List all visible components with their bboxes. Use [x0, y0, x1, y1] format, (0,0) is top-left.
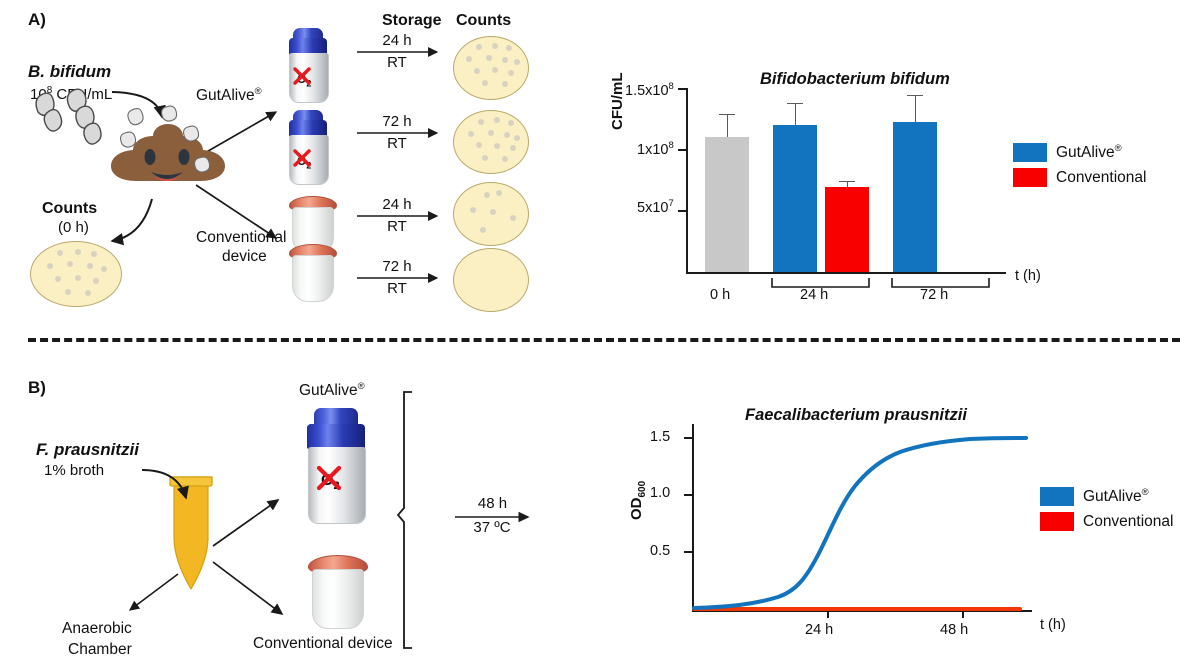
gutalive-container-row1: O2: [287, 28, 329, 102]
storage-arrow-row1: [0, 0, 1200, 671]
line-xtick-48h: [962, 610, 964, 618]
line-chart-title: Faecalibacterium prausnitzii: [745, 406, 967, 425]
bar-ytick-0: [678, 210, 686, 212]
eppendorf-tube-icon: [0, 0, 1200, 671]
line-xtick-24h: [827, 610, 829, 618]
errorbar-24h-gutalive: [795, 104, 796, 125]
branch-label-conventional-line2: device: [222, 248, 267, 266]
no-oxygen-x-icon: [294, 150, 314, 170]
panel-b-conventional-label: Conventional device: [253, 635, 393, 653]
series-gutalive-line: [694, 438, 1026, 608]
line-ytick-label-0.5: 0.5: [650, 543, 670, 559]
panel-b-inoculum: 1% broth: [44, 463, 104, 480]
storage-time-row4: 72 h: [357, 258, 437, 275]
storage-time-row3: 24 h: [357, 196, 437, 213]
bar-group-label-72h: 72 h: [920, 287, 948, 303]
panel-b-brace-and-incubation: [0, 0, 1200, 671]
bar-ytick-label-1: 1x108: [637, 140, 674, 158]
counts-zero-subtitle: (0 h): [58, 220, 89, 237]
storage-temp-row4: RT: [357, 280, 437, 297]
bar-0h-baseline: [705, 137, 749, 272]
legend-label-conventional: Conventional: [1083, 513, 1173, 531]
panel-divider: [28, 338, 1180, 342]
storage-header: Storage: [382, 12, 442, 30]
storage-time-row2: 72 h: [357, 113, 437, 130]
panel-b-arrows: [0, 0, 1200, 671]
line-xtick-label-24h: 24 h: [805, 622, 833, 638]
incubation-time: 48 h: [455, 495, 530, 512]
bar-chart-xaxis: [686, 272, 1006, 274]
storage-arrow-row4: [0, 0, 1200, 671]
bar-24h-gutalive: [773, 125, 817, 272]
legend-label-gutalive: GutAlive®: [1083, 487, 1149, 506]
bar-group-label-0h: 0 h: [710, 287, 730, 303]
bar-chart-group-brackets: [0, 0, 1200, 671]
legend-item-gutalive: GutAlive®: [1013, 143, 1146, 162]
legend-swatch-conventional: [1040, 512, 1074, 531]
bar-ytick-1: [678, 149, 686, 151]
legend-label-gutalive: GutAlive®: [1056, 143, 1122, 162]
legend-label-conventional: Conventional: [1056, 169, 1146, 187]
bar-ytick-label-0: 5x107: [637, 198, 674, 216]
storage-time-row1: 24 h: [357, 32, 437, 49]
legend-swatch-conventional: [1013, 168, 1047, 187]
bar-chart-legend: GutAlive® Conventional: [1013, 143, 1146, 193]
panel-b-letter: B): [28, 378, 46, 397]
errorbar-0h-baseline: [727, 115, 728, 137]
storage-temp-row2: RT: [357, 135, 437, 152]
errorbar-cap-24h-conventional: [839, 181, 855, 183]
gutalive-container-row2: O2: [287, 110, 329, 184]
line-ytick-label-1.5: 1.5: [650, 429, 670, 445]
anaerobic-chamber-label-line1: Anaerobic: [62, 620, 132, 638]
bar-ytick-2: [678, 88, 686, 90]
legend-item-gutalive: GutAlive®: [1040, 487, 1173, 506]
petri-dish-0h: [30, 241, 122, 307]
line-ytick-label-1.0: 1.0: [650, 485, 670, 501]
branch-label-conventional-line1: Conventional: [196, 229, 286, 247]
line-chart-xlabel: t (h): [1040, 617, 1066, 633]
anaerobic-chamber-label-line2: Chamber: [68, 641, 132, 659]
petri-dish-row4: [453, 248, 529, 312]
legend-swatch-gutalive: [1013, 143, 1047, 162]
bar-chart-title: Bifidobacterium bifidum: [760, 70, 950, 89]
errorbar-24h-conventional: [847, 182, 848, 187]
errorbar-cap-24h-gutalive: [787, 103, 803, 105]
petri-dish-row3: [453, 182, 529, 246]
stool-icon: [0, 0, 1200, 671]
arrow-inoculate-stool: [0, 0, 1200, 671]
gutalive-container-panel-b: O2: [305, 408, 367, 523]
branch-label-gutalive: GutAlive®: [196, 86, 262, 105]
counts-zero-title: Counts: [42, 200, 97, 218]
storage-temp-row3: RT: [357, 218, 437, 235]
conventional-container-panel-b: [308, 555, 366, 627]
conventional-container-row4: [289, 244, 335, 300]
line-ytick-1.5: [684, 437, 692, 439]
errorbar-cap-72h-gutalive: [907, 95, 923, 97]
no-oxygen-x-icon: [294, 68, 314, 88]
bar-group-label-24h: 24 h: [800, 287, 828, 303]
panel-b-organism: F. prausnitzii: [36, 440, 139, 459]
bar-chart-plot: [686, 88, 1006, 272]
legend-item-conventional: Conventional: [1013, 168, 1146, 187]
panel-a-letter: A): [28, 10, 46, 29]
bar-24h-conventional: [825, 187, 869, 272]
counts-header: Counts: [456, 12, 511, 30]
storage-arrow-row3: [0, 0, 1200, 671]
legend-item-conventional: Conventional: [1040, 512, 1173, 531]
line-chart-plot: [0, 0, 1200, 671]
legend-swatch-gutalive: [1040, 487, 1074, 506]
line-xtick-label-48h: 48 h: [940, 622, 968, 638]
line-ytick-0.5: [684, 551, 692, 553]
bar-72h-gutalive: [893, 122, 937, 272]
panel-a-organism: B. bifidum: [28, 62, 111, 81]
bar-ytick-label-2: 1.5x108: [625, 81, 674, 99]
no-oxygen-x-icon: [317, 466, 345, 494]
line-chart-xaxis: [692, 610, 1032, 612]
line-ytick-1.0: [684, 494, 692, 496]
line-chart-legend: GutAlive® Conventional: [1040, 487, 1173, 537]
storage-arrow-row2: [0, 0, 1200, 671]
line-chart-yaxis: [692, 424, 694, 612]
bacteria-icon: [0, 0, 1200, 671]
line-chart-ylabel: OD600: [628, 481, 648, 520]
panel-a-inoculum: 108 CFU/mL: [30, 85, 112, 104]
errorbar-cap-0h-baseline: [719, 114, 735, 116]
petri-dish-row2: [453, 110, 529, 174]
incubation-temp: 37 ºC: [452, 519, 532, 536]
petri-dish-row1: [453, 36, 529, 100]
storage-temp-row1: RT: [357, 54, 437, 71]
errorbar-72h-gutalive: [915, 96, 916, 122]
panel-b-gutalive-label: GutAlive®: [299, 381, 365, 400]
bar-chart-xlabel: t (h): [1015, 268, 1041, 284]
